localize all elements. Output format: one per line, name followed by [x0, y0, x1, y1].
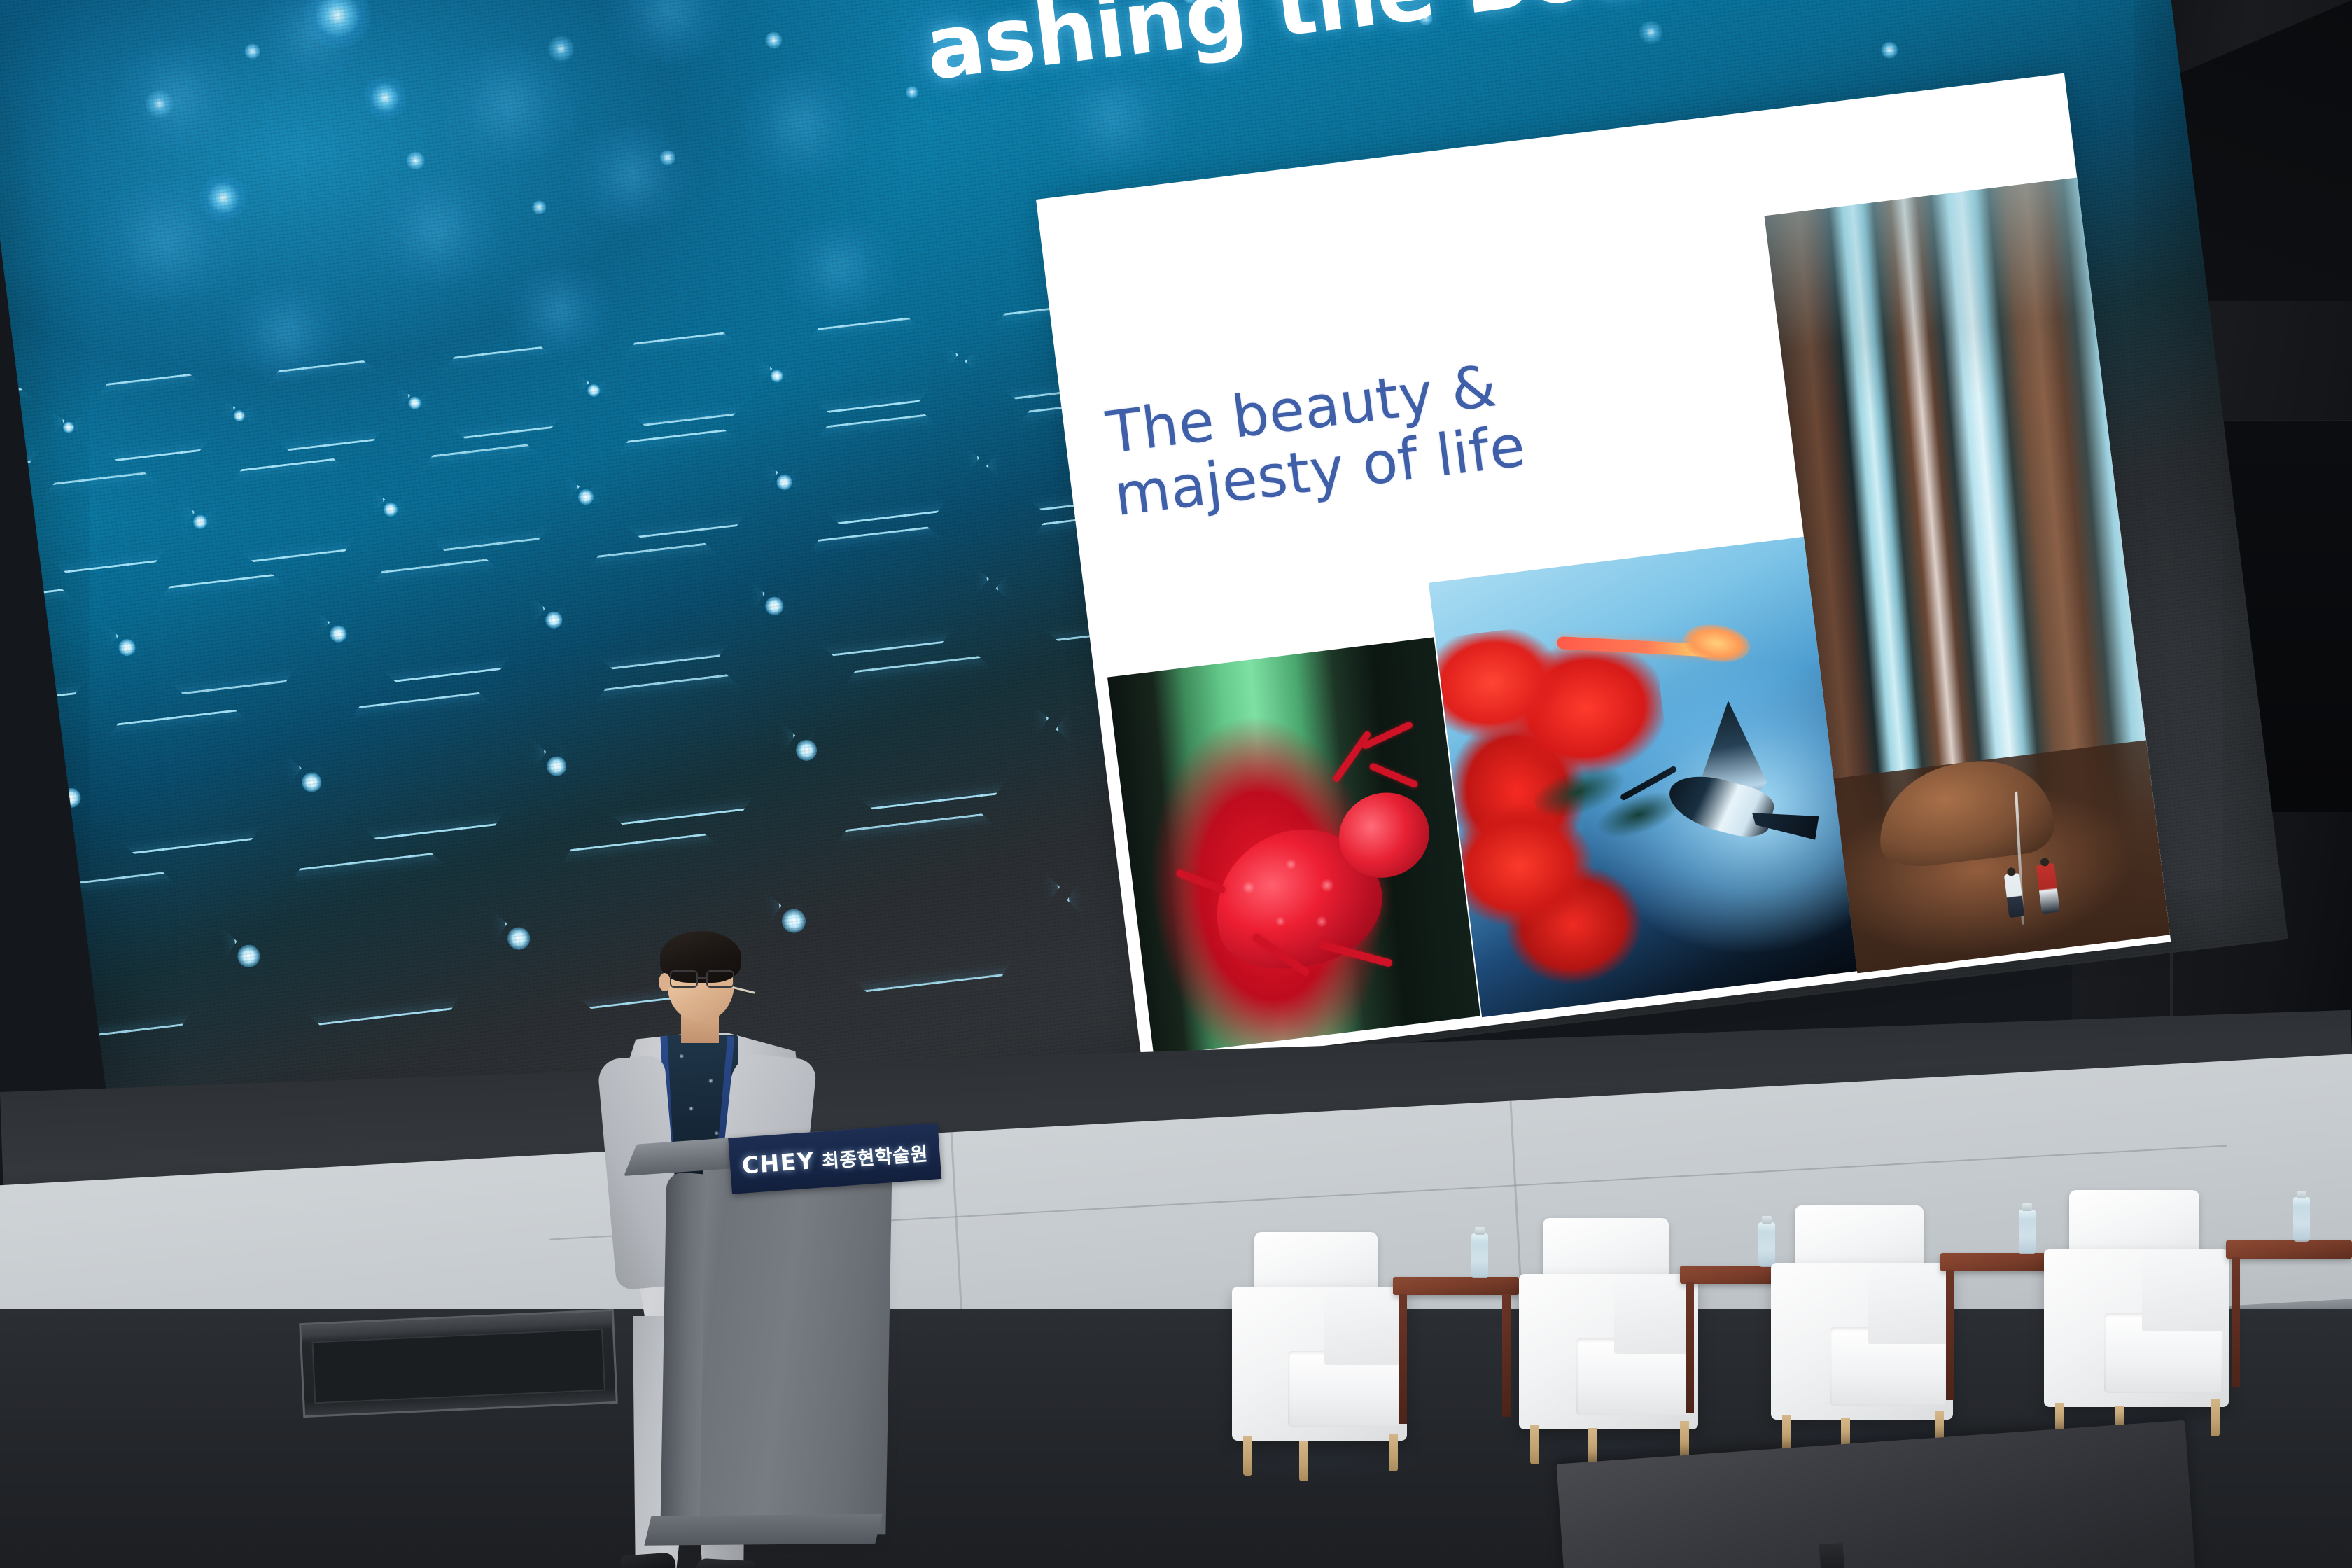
presenter-ear	[659, 973, 671, 991]
stage-armchair[interactable]	[1232, 1232, 1407, 1470]
institute-korean-name: 최종현학술원	[820, 1138, 928, 1173]
stage-side-table	[1393, 1277, 1519, 1452]
weevil-leg	[1332, 730, 1373, 783]
monitor-stand	[1819, 1543, 1845, 1568]
presenter-shoe	[696, 1558, 755, 1568]
water-bottle[interactable]	[2019, 1210, 2036, 1254]
chey-wordmark: CHEY	[741, 1147, 815, 1179]
lectern: CHEY 최종현학술원	[696, 1161, 892, 1535]
hummingbird-hibiscus-photo	[1429, 537, 1857, 1017]
weevil-leg	[1368, 762, 1419, 789]
forest-canopy	[1765, 178, 2103, 425]
stage-armchair[interactable]	[1771, 1205, 1953, 1449]
stage-armchair[interactable]	[1519, 1218, 1698, 1459]
presentation-slide: The beauty & majesty of life	[1036, 73, 2171, 1068]
red-weevil-photo	[1107, 637, 1480, 1056]
flower-anther	[1681, 620, 1753, 666]
eyeglasses-icon	[670, 970, 734, 988]
stage-vent	[299, 1309, 618, 1417]
water-bottle[interactable]	[1471, 1233, 1488, 1278]
lectern-base	[644, 1514, 882, 1546]
lectern-side-panel	[660, 1171, 706, 1533]
presenter-shoe	[620, 1552, 676, 1568]
water-bottle[interactable]	[2293, 1197, 2310, 1242]
stage-side-table	[2226, 1240, 2352, 1415]
stage-armchair[interactable]	[2044, 1190, 2229, 1435]
conference-stage-scene: 50 Years in Scientific Innovation ashing…	[0, 0, 2352, 1568]
